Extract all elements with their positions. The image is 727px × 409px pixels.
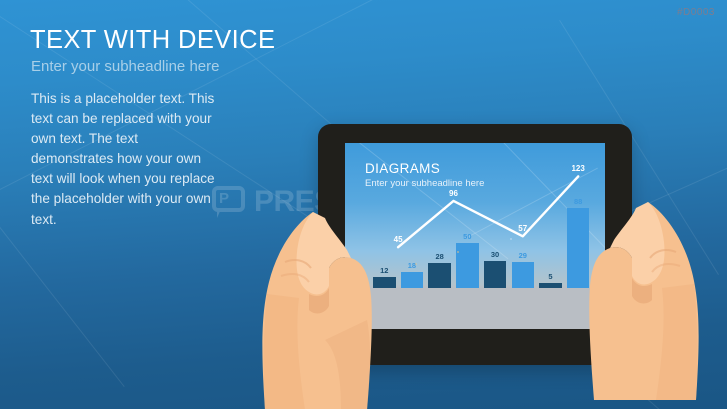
- chart-bar: 88: [567, 208, 590, 288]
- chart-bar: 12: [373, 277, 396, 288]
- chart-bar-label: 5: [548, 272, 552, 281]
- chart-bar: 50: [456, 243, 479, 288]
- chart-dot-marker: [510, 238, 512, 240]
- chart: 121828503029588 459657123: [345, 143, 605, 329]
- slide-canvas: #D0003 TEXT WITH DEVICE Enter your subhe…: [0, 0, 727, 409]
- watermark-logo-letter: P: [219, 191, 229, 206]
- chart-line: [398, 176, 578, 247]
- chart-bar: 5: [539, 283, 562, 288]
- body-placeholder-text: This is a placeholder text. This text ca…: [31, 89, 216, 230]
- chart-bar-label: 29: [519, 251, 527, 260]
- chart-bar: 29: [512, 262, 535, 288]
- tablet-screen: DIAGRAMS Enter your subheadline here 121…: [345, 143, 605, 329]
- chart-line-label: 57: [518, 224, 527, 233]
- template-id-label: #D0003: [677, 7, 715, 18]
- tablet-device: DIAGRAMS Enter your subheadline here 121…: [318, 124, 632, 365]
- chart-bar-label: 28: [435, 252, 443, 261]
- chart-dot-marker: [457, 251, 459, 253]
- chart-bar: 30: [484, 261, 507, 288]
- chart-bar-label: 12: [380, 266, 388, 275]
- chart-bar-label: 88: [574, 197, 582, 206]
- chart-line-label: 45: [394, 235, 403, 244]
- chart-bar-label: 30: [491, 250, 499, 259]
- chart-bar-label: 50: [463, 232, 471, 241]
- chart-bar: 18: [401, 272, 424, 288]
- chart-line-label: 96: [449, 189, 458, 198]
- speech-bubble-logo-icon: P: [212, 186, 245, 217]
- chart-line-label: 123: [571, 164, 584, 173]
- page-title: TEXT WITH DEVICE: [30, 26, 275, 55]
- page-subtitle: Enter your subheadline here: [31, 58, 219, 75]
- chart-dot-marker: [415, 263, 417, 265]
- chart-bar: 28: [428, 263, 451, 288]
